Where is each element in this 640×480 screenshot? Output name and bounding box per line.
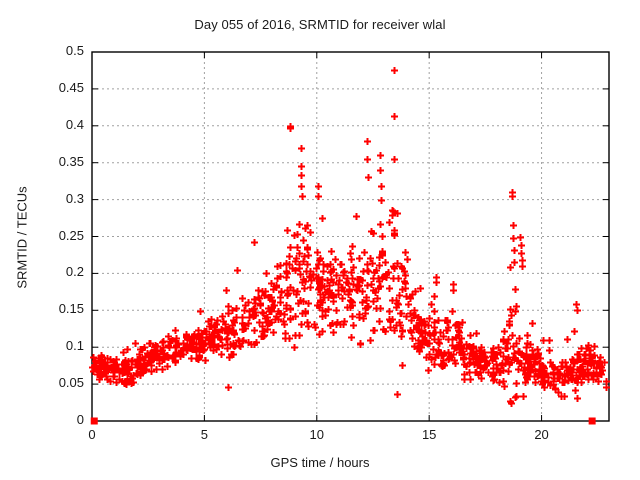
plot-canvas (0, 0, 640, 480)
scatter-plot-figure: Day 055 of 2016, SRMTID for receiver wla… (0, 0, 640, 480)
data-points (89, 67, 610, 425)
